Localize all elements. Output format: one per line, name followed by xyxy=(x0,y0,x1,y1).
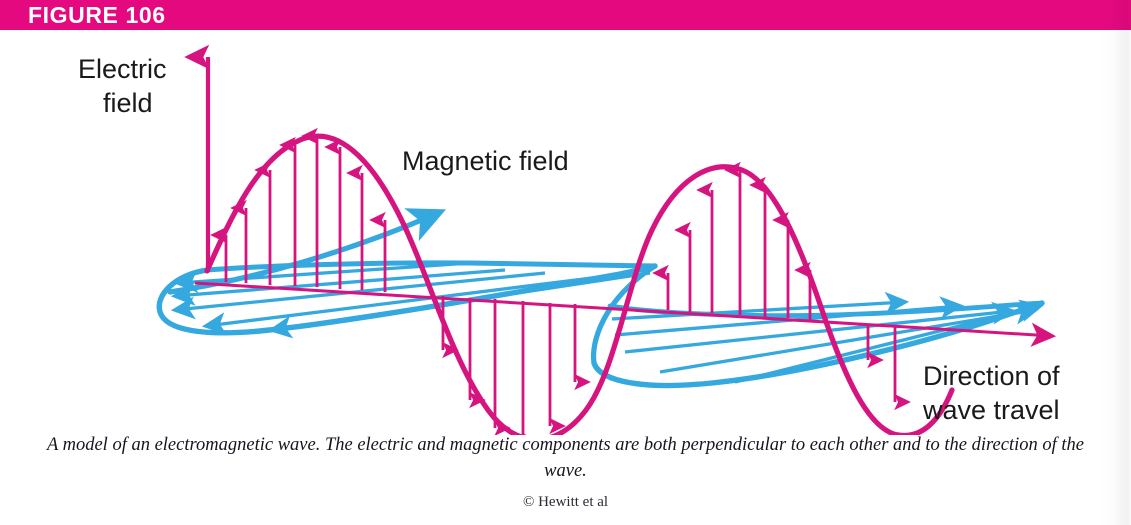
magnetic-field-group xyxy=(159,212,1042,386)
magnetic-field-label: Magnetic field xyxy=(402,146,569,176)
electric-field-label-line1: Electric xyxy=(78,54,167,84)
figure-caption: A model of an electromagnetic wave. The … xyxy=(46,432,1086,485)
wave-diagram-svg: Electric field Magnetic field Direction … xyxy=(0,30,1131,435)
figure-number-label: FIGURE 106 xyxy=(0,0,166,30)
electromagnetic-wave-diagram: Electric field Magnetic field Direction … xyxy=(0,30,1131,435)
caption-block: A model of an electromagnetic wave. The … xyxy=(0,432,1131,511)
electric-field-arrows-crest-2 xyxy=(668,170,810,320)
propagation-label-line1: Direction of xyxy=(923,361,1060,391)
propagation-label-line2: wave travel xyxy=(922,395,1060,425)
electric-field-label-line2: field xyxy=(103,88,153,118)
figure-credit: © Hewitt et al xyxy=(0,494,1131,511)
figure-page: FIGURE 106 xyxy=(0,0,1131,525)
figure-header-bar: FIGURE 106 xyxy=(0,0,1131,30)
